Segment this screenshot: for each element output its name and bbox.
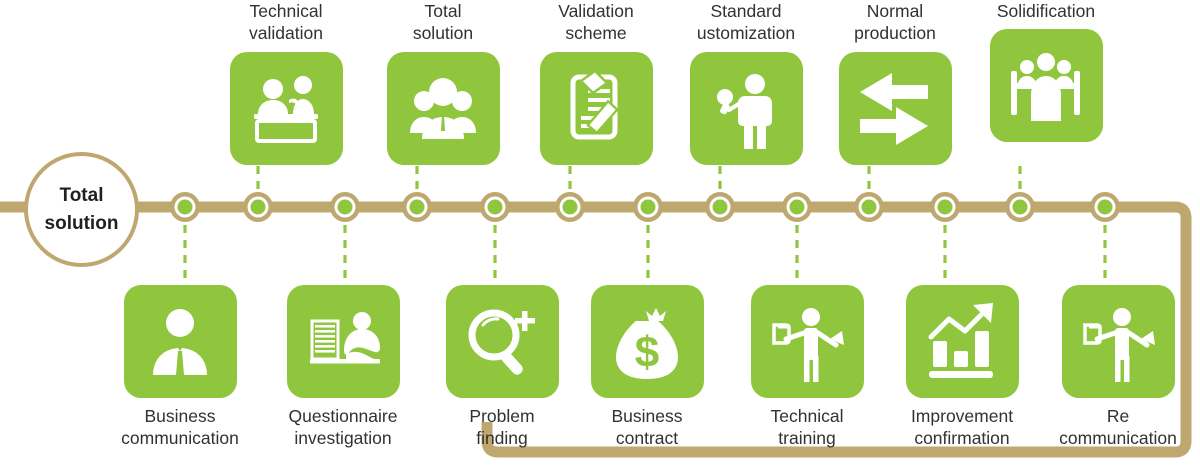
caption-line2: communication bbox=[100, 427, 260, 449]
caption-line2: confirmation bbox=[882, 427, 1042, 449]
caption-line1: Technical bbox=[727, 405, 887, 427]
caption-line1: Business bbox=[100, 405, 260, 427]
caption-line1: Re bbox=[1038, 405, 1198, 427]
node-caption-business-contract: Businesscontract bbox=[567, 405, 727, 450]
people-group-icon bbox=[402, 67, 484, 149]
caption-line2: investigation bbox=[263, 427, 423, 449]
node-caption-improvement-confirmation: Improvementconfirmation bbox=[882, 405, 1042, 450]
node-caption-business-communication: Businesscommunication bbox=[100, 405, 260, 450]
start-badge-line1: Total bbox=[60, 182, 104, 210]
process-node-validation-scheme[interactable]: Validationscheme bbox=[516, 0, 676, 165]
caption-line1: Improvement bbox=[882, 405, 1042, 427]
caption-line1: Validation bbox=[516, 0, 676, 22]
caption-line2: scheme bbox=[516, 22, 676, 44]
money-bag-icon: $ bbox=[606, 301, 688, 383]
node-caption-problem-finding: Problemfinding bbox=[422, 405, 582, 450]
process-node-problem-finding[interactable]: Problemfinding bbox=[422, 285, 582, 450]
node-caption-normal-production: Normalproduction bbox=[815, 0, 975, 45]
node-tile-business-contract[interactable]: $ bbox=[591, 285, 704, 398]
trainer-book-icon bbox=[1077, 301, 1159, 383]
caption-line2: solution bbox=[363, 22, 523, 44]
connector-lines bbox=[185, 163, 1105, 281]
team-table-icon bbox=[1005, 45, 1087, 127]
magnifier-plus-icon bbox=[461, 301, 543, 383]
start-badge[interactable]: Total solution bbox=[24, 152, 139, 267]
caption-line2: finding bbox=[422, 427, 582, 449]
node-caption-standard-ustomization: Standardustomization bbox=[666, 0, 826, 45]
desk-survey-icon bbox=[302, 301, 384, 383]
process-node-solidification[interactable]: Solidification bbox=[966, 0, 1126, 142]
process-timeline-diagram: Total solution Technicalvalidation Total… bbox=[0, 0, 1200, 467]
node-caption-technical-training: Technicaltraining bbox=[727, 405, 887, 450]
caption-line2: contract bbox=[567, 427, 727, 449]
caption-line1: Total bbox=[363, 0, 523, 22]
businessperson-tie-icon bbox=[139, 301, 221, 383]
node-tile-problem-finding[interactable] bbox=[446, 285, 559, 398]
person-microphone-icon bbox=[705, 67, 787, 149]
caption-line2: communication bbox=[1038, 427, 1198, 449]
caption-line2: validation bbox=[206, 22, 366, 44]
document-pen-icon bbox=[555, 67, 637, 149]
start-badge-line2: solution bbox=[45, 210, 119, 238]
node-caption-re-communication: Recommunication bbox=[1038, 405, 1198, 450]
caption-line1: Solidification bbox=[966, 0, 1126, 22]
node-tile-business-communication[interactable] bbox=[124, 285, 237, 398]
process-node-standard-ustomization[interactable]: Standardustomization bbox=[666, 0, 826, 165]
caption-line2: production bbox=[815, 22, 975, 44]
caption-line1: Problem bbox=[422, 405, 582, 427]
node-caption-solidification: Solidification bbox=[966, 0, 1126, 22]
process-node-business-communication[interactable]: Businesscommunication bbox=[100, 285, 260, 450]
node-tile-technical-training[interactable] bbox=[751, 285, 864, 398]
node-tile-re-communication[interactable] bbox=[1062, 285, 1175, 398]
node-caption-total-solution: Totalsolution bbox=[363, 0, 523, 45]
node-tile-total-solution[interactable] bbox=[387, 52, 500, 165]
node-caption-validation-scheme: Validationscheme bbox=[516, 0, 676, 45]
node-caption-questionnaire-investigation: Questionnaireinvestigation bbox=[263, 405, 423, 450]
process-node-total-solution[interactable]: Totalsolution bbox=[363, 0, 523, 165]
caption-line1: Standard bbox=[666, 0, 826, 22]
caption-line1: Questionnaire bbox=[263, 405, 423, 427]
caption-line1: Technical bbox=[206, 0, 366, 22]
caption-line1: Normal bbox=[815, 0, 975, 22]
svg-text:$: $ bbox=[635, 328, 659, 377]
node-tile-normal-production[interactable] bbox=[839, 52, 952, 165]
caption-line1: Business bbox=[567, 405, 727, 427]
process-node-business-contract[interactable]: $Businesscontract bbox=[567, 285, 727, 450]
process-node-technical-validation[interactable]: Technicalvalidation bbox=[206, 0, 366, 165]
node-tile-validation-scheme[interactable] bbox=[540, 52, 653, 165]
node-tile-questionnaire-investigation[interactable] bbox=[287, 285, 400, 398]
growth-chart-icon bbox=[921, 301, 1003, 383]
process-node-technical-training[interactable]: Technicaltraining bbox=[727, 285, 887, 450]
node-tile-solidification[interactable] bbox=[990, 29, 1103, 142]
node-tile-improvement-confirmation[interactable] bbox=[906, 285, 1019, 398]
caption-line2: training bbox=[727, 427, 887, 449]
process-node-questionnaire-investigation[interactable]: Questionnaireinvestigation bbox=[263, 285, 423, 450]
caption-line2: ustomization bbox=[666, 22, 826, 44]
two-arrows-icon bbox=[854, 67, 936, 149]
process-node-normal-production[interactable]: Normalproduction bbox=[815, 0, 975, 165]
trainer-book-icon bbox=[766, 301, 848, 383]
node-caption-technical-validation: Technicalvalidation bbox=[206, 0, 366, 45]
process-node-re-communication[interactable]: Recommunication bbox=[1038, 285, 1198, 450]
node-tile-technical-validation[interactable] bbox=[230, 52, 343, 165]
process-node-improvement-confirmation[interactable]: Improvementconfirmation bbox=[882, 285, 1042, 450]
meeting-table-icon bbox=[245, 67, 327, 149]
node-tile-standard-ustomization[interactable] bbox=[690, 52, 803, 165]
